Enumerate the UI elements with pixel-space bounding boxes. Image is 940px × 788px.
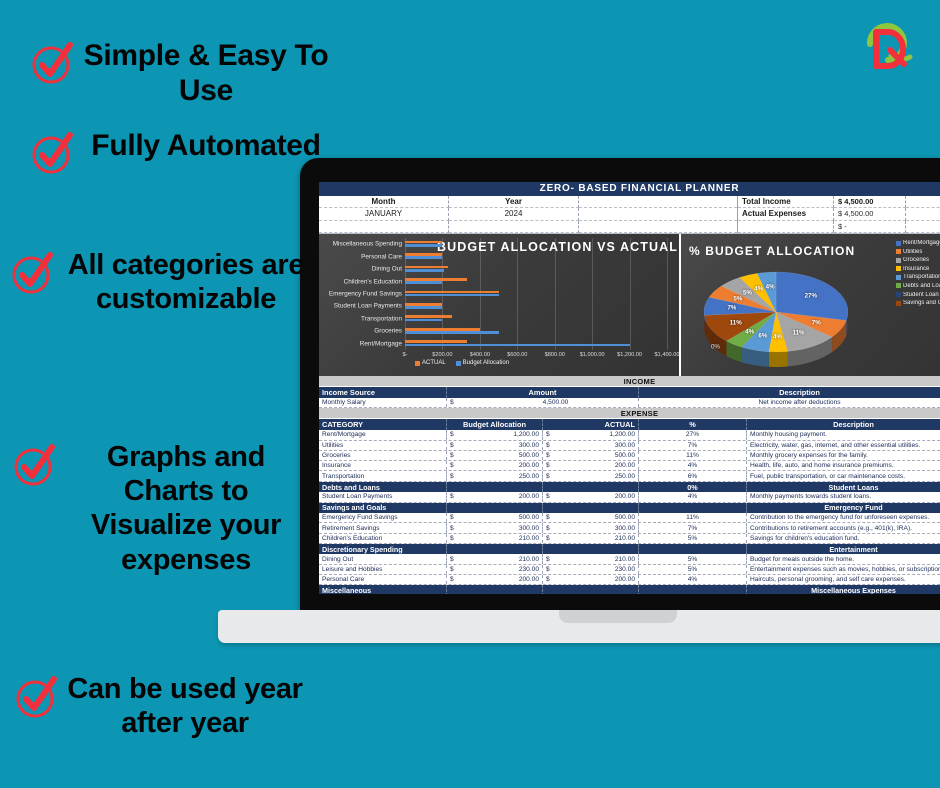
expense-col-pct: % xyxy=(639,419,747,430)
income-rows: Monthly Salary$4,500.00Net income after … xyxy=(319,398,940,408)
percent-cell: 27% xyxy=(639,430,747,439)
budget-cell: $500.00 xyxy=(447,451,543,460)
percent-cell: 7% xyxy=(639,523,747,532)
income-col-source: Income Source xyxy=(319,387,447,398)
bar-chart-x-tick: $800.00 xyxy=(545,352,565,358)
bar-budget xyxy=(405,269,444,272)
total-income-label: Total Income xyxy=(738,196,834,208)
category-cell: Debts and Loans xyxy=(319,482,447,493)
bar-chart-x-tick: $1,200.00 xyxy=(617,352,642,358)
percent-cell xyxy=(639,544,747,555)
actual-cell: $200.00 xyxy=(543,575,639,584)
legend-swatch xyxy=(456,361,461,366)
bar-actual xyxy=(405,241,442,244)
budget-cell: $200.00 xyxy=(447,492,543,501)
description-cell: Entertainment expenses such as movies, h… xyxy=(747,565,940,574)
check-circle-icon xyxy=(30,40,76,86)
pie-slice-percent: 5% xyxy=(733,296,742,303)
feature-label: Fully Automated xyxy=(82,128,330,163)
pie-slice-percent: 4% xyxy=(773,333,782,340)
bar-chart-x-tick: $1,000.00 xyxy=(580,352,605,358)
check-circle-icon xyxy=(10,250,56,296)
budget-cell: $200.00 xyxy=(447,461,543,470)
income-col-description: Description xyxy=(639,387,940,398)
budget-cell xyxy=(447,585,543,594)
legend-label: Insurance xyxy=(903,266,929,272)
actual-cell: $1,200.00 xyxy=(543,430,639,439)
budget-cell xyxy=(447,503,543,514)
feature-label: All categories are customizable xyxy=(62,248,310,316)
bar-chart-legend: ACTUALBudget Allocation xyxy=(415,360,509,366)
bar-chart-plot: Rent/MortgageGroceriesTransportationStud… xyxy=(405,238,667,350)
table-row[interactable]: Dining Out$210.00$210.005%Budget for mea… xyxy=(319,554,940,564)
month-label: Month xyxy=(319,196,449,208)
table-row[interactable]: Student Loan Payments$200.00$200.004%Mon… xyxy=(319,492,940,502)
income-header-row: Income Source Amount Description xyxy=(319,387,940,398)
header-blank-4 xyxy=(449,221,579,233)
percent-cell: 5% xyxy=(639,565,747,574)
bar-chart-category-label: Children's Education xyxy=(319,278,402,285)
percent-cell: 6% xyxy=(639,471,747,480)
feature-label: Can be used year after year xyxy=(66,672,304,740)
check-circle-icon xyxy=(12,442,58,488)
description-cell: Monthly housing payment. xyxy=(747,430,940,439)
pie-legend-item: Groceries xyxy=(896,257,940,263)
pie-slice-percent: 11% xyxy=(730,319,742,326)
year-label: Year xyxy=(449,196,579,208)
table-section-row[interactable]: MiscellaneousMiscellaneous Expenses xyxy=(319,585,940,594)
category-cell: Student Loan Payments xyxy=(319,492,447,501)
pie-slice-percent: 11% xyxy=(793,330,805,337)
percent-cell: 4% xyxy=(639,461,747,470)
bar-budget xyxy=(405,281,442,284)
description-cell: Contribution to the emergency fund for u… xyxy=(747,513,940,522)
laptop-screen: ZERO- BASED FINANCIAL PLANNER Month Year… xyxy=(319,182,940,594)
bar-chart-x-tick: $200.00 xyxy=(432,352,452,358)
expense-col-budget: Budget Allocation xyxy=(447,419,543,430)
pie-slice-percent: 5% xyxy=(743,289,752,296)
legend-label: Groceries xyxy=(903,257,929,263)
category-cell: Dining Out xyxy=(319,554,447,563)
actual-cell: $230.00 xyxy=(543,565,639,574)
percent-cell: 5% xyxy=(639,554,747,563)
feature-label: Simple & Easy To Use xyxy=(82,38,330,109)
expense-col-category: CATEGORY xyxy=(319,419,447,430)
bar-chart-gridline xyxy=(667,238,668,350)
percent-cell: 11% xyxy=(639,451,747,460)
pie-chart-legend: Rent/MortgageUtilitiesGroceriesInsurance… xyxy=(896,240,940,306)
pie-legend-item: Transportation xyxy=(896,274,940,280)
legend-label: Utilities xyxy=(903,249,922,255)
category-cell: Discretionary Spending xyxy=(319,544,447,555)
qd-monogram-logo xyxy=(850,14,924,76)
description-cell: Monthly payments towards student loans. xyxy=(747,492,940,501)
actual-cell: $200.00 xyxy=(543,492,639,501)
pie-slice-percent: 4% xyxy=(745,329,754,336)
description-cell: Health, life, auto, and home insurance p… xyxy=(747,461,940,470)
bar-chart-legend-item: ACTUAL xyxy=(415,360,446,366)
laptop-mockup: ZERO- BASED FINANCIAL PLANNER Month Year… xyxy=(300,158,940,648)
description-cell: Monthly grocery expenses for the family. xyxy=(747,451,940,460)
description-cell: Electricity, water, gas, internet, and o… xyxy=(747,441,940,450)
feature-item-graphs-charts: Graphs and Charts to Visualize your expe… xyxy=(12,440,308,577)
category-cell: Groceries xyxy=(319,451,447,460)
category-cell: Emergency Fund Savings xyxy=(319,513,447,522)
remaining-value: $ - xyxy=(834,221,906,233)
legend-swatch xyxy=(896,292,901,297)
actual-cell: $210.00 xyxy=(543,534,639,543)
income-col-amount: Amount xyxy=(447,387,639,398)
expense-col-description: Description xyxy=(747,419,940,430)
description-cell: Fuel, public transportation, or car main… xyxy=(747,471,940,480)
actual-cell xyxy=(543,482,639,493)
table-row[interactable]: Leisure and Hobbies$230.00$230.005%Enter… xyxy=(319,565,940,575)
bar-actual xyxy=(405,278,467,281)
table-section-row[interactable]: Discretionary SpendingEntertainment xyxy=(319,544,940,555)
month-value[interactable]: JANUARY xyxy=(319,208,449,220)
feature-item-year-after-year: Can be used year after year xyxy=(14,672,304,740)
feature-list: Simple & Easy To Use Fully Automated All… xyxy=(0,0,320,788)
budget-cell: $210.00 xyxy=(447,554,543,563)
bar-budget xyxy=(405,331,499,334)
spreadsheet-title: ZERO- BASED FINANCIAL PLANNER xyxy=(319,182,940,196)
legend-swatch xyxy=(896,275,901,280)
year-value[interactable]: 2024 xyxy=(449,208,579,220)
percent-cell xyxy=(639,503,747,514)
pie-chart-graphic: 27%7%11%4%6%4%0%11%7%5%5%4%4% xyxy=(687,260,865,372)
income-amount-cell: $4,500.00 xyxy=(447,398,639,407)
bar-chart-gridline xyxy=(630,238,631,350)
income-band: INCOME xyxy=(319,376,940,387)
table-row[interactable]: Rent/Mortgage$1,200.00$1,200.0027%Monthl… xyxy=(319,430,940,440)
actual-cell: $500.00 xyxy=(543,451,639,460)
category-cell: Rent/Mortgage xyxy=(319,430,447,439)
actual-cell xyxy=(543,544,639,555)
remaining-label xyxy=(738,221,834,233)
percent-cell: 11% xyxy=(639,513,747,522)
category-cell: Savings and Goals xyxy=(319,503,447,514)
actual-expenses-label: Actual Expenses xyxy=(738,208,834,220)
percent-cell: 4% xyxy=(639,492,747,501)
actual-cell: $210.00 xyxy=(543,554,639,563)
legend-label: Savings and Goa xyxy=(903,300,940,306)
bar-budget xyxy=(405,256,442,259)
bar-actual xyxy=(405,291,499,294)
bar-chart-category-label: Miscellaneous Spending xyxy=(319,241,402,248)
table-row[interactable]: Monthly Salary$4,500.00Net income after … xyxy=(319,398,940,408)
budget-cell: $200.00 xyxy=(447,575,543,584)
pie-slice-percent: 27% xyxy=(805,293,817,300)
bar-chart-category-label: Dining Out xyxy=(319,266,402,273)
description-cell: Contributions to retirement accounts (e.… xyxy=(747,523,940,532)
header-blank-1 xyxy=(579,196,737,208)
budget-cell: $500.00 xyxy=(447,513,543,522)
description-cell: Entertainment xyxy=(747,544,940,555)
pie-legend-item: Debts and Loans xyxy=(896,283,940,289)
pie-svg xyxy=(687,260,865,372)
bar-chart-category-label: Groceries xyxy=(319,328,402,335)
bar-chart-category-label: Rent/Mortgage xyxy=(319,340,402,347)
description-cell: Student Loans xyxy=(747,482,940,493)
pie-slice-side xyxy=(769,351,788,367)
financial-table: INCOME Income Source Amount Description … xyxy=(319,376,940,594)
expense-col-actual: ACTUAL xyxy=(543,419,639,430)
pie-slice-percent: 4% xyxy=(754,286,763,293)
bar-chart-gridline xyxy=(592,238,593,350)
bar-chart-x-tick: $1,400.00 xyxy=(655,352,680,358)
description-cell: Miscellaneous Expenses xyxy=(747,585,940,594)
pie-chart-title: % BUDGET ALLOCATION xyxy=(689,244,855,258)
legend-swatch xyxy=(896,301,901,306)
percent-cell xyxy=(639,585,747,594)
pie-slice-percent: 4% xyxy=(766,284,775,291)
legend-swatch xyxy=(415,361,420,366)
header-blank-5 xyxy=(579,221,737,233)
table-section-row[interactable]: Debts and Loans0%Student Loans xyxy=(319,482,940,493)
pie-legend-item: Utilities xyxy=(896,249,940,255)
budget-cell: $250.00 xyxy=(447,471,543,480)
pie-legend-item: Savings and Goa xyxy=(896,300,940,306)
category-cell: Miscellaneous xyxy=(319,585,447,594)
check-circle-icon xyxy=(30,130,76,176)
budget-cell: $1,200.00 xyxy=(447,430,543,439)
category-cell: Insurance xyxy=(319,461,447,470)
category-cell: Leisure and Hobbies xyxy=(319,565,447,574)
category-cell: Utilities xyxy=(319,441,447,450)
pie-slice-percent: 0% xyxy=(711,344,720,351)
budget-cell: $300.00 xyxy=(447,441,543,450)
bar-budget xyxy=(405,306,442,309)
income-description-cell: Net income after deductions xyxy=(639,398,940,407)
legend-swatch xyxy=(896,241,901,246)
bar-chart-category-label: Emergency Fund Savings xyxy=(319,291,402,298)
legend-label: Transportation xyxy=(903,274,940,280)
table-row[interactable]: Groceries$500.00$500.0011%Monthly grocer… xyxy=(319,451,940,461)
table-row[interactable]: Utilities$300.00$300.007%Electricity, wa… xyxy=(319,441,940,451)
header-totals: Total Income $ 4,500.00 Actual Expenses … xyxy=(737,196,940,233)
legend-label: Debts and Loans xyxy=(903,283,940,289)
totals-pad-1 xyxy=(906,196,940,208)
spreadsheet: ZERO- BASED FINANCIAL PLANNER Month Year… xyxy=(319,182,940,594)
bar-budget xyxy=(405,294,499,297)
budget-cell: $300.00 xyxy=(447,523,543,532)
feature-item-fully-automated: Fully Automated xyxy=(30,128,330,176)
bar-chart-legend-item: Budget Allocation xyxy=(456,360,509,366)
bar-chart-category-label: Student Loan Payments xyxy=(319,303,402,310)
bar-chart-gridline xyxy=(555,238,556,350)
bar-actual xyxy=(405,328,480,331)
category-cell: Retirement Savings xyxy=(319,523,447,532)
description-cell: Haircuts, personal grooming, and self ca… xyxy=(747,575,940,584)
total-income-value: $ 4,500.00 xyxy=(834,196,906,208)
header-blank-2 xyxy=(579,208,737,220)
percent-cell: 4% xyxy=(639,575,747,584)
actual-cell xyxy=(543,503,639,514)
feature-item-simple-easy: Simple & Easy To Use xyxy=(30,38,330,109)
bar-budget xyxy=(405,319,442,322)
legend-label: Student Loan Pa xyxy=(903,292,940,298)
actual-cell: $500.00 xyxy=(543,513,639,522)
header-blank-3 xyxy=(319,221,449,233)
feature-label: Graphs and Charts to Visualize your expe… xyxy=(64,440,308,577)
pie-slice-percent: 7% xyxy=(727,305,736,312)
totals-pad-2 xyxy=(906,208,940,220)
legend-swatch xyxy=(896,249,901,254)
category-cell: Personal Care xyxy=(319,575,447,584)
budget-cell xyxy=(447,482,543,493)
budget-cell: $210.00 xyxy=(447,534,543,543)
expense-band: EXPENSE xyxy=(319,408,940,419)
legend-swatch xyxy=(896,258,901,263)
bar-chart-category-label: Transportation xyxy=(319,315,402,322)
pie-legend-item: Student Loan Pa xyxy=(896,292,940,298)
laptop-base xyxy=(218,610,940,643)
bar-actual xyxy=(405,266,448,269)
bar-chart-gridline xyxy=(517,238,518,350)
pie-legend-item: Insurance xyxy=(896,266,940,272)
actual-cell: $300.00 xyxy=(543,523,639,532)
description-cell: Emergency Fund xyxy=(747,503,940,514)
bar-actual xyxy=(405,315,452,318)
actual-cell: $200.00 xyxy=(543,461,639,470)
pie-slice-percent: 7% xyxy=(812,319,821,326)
spreadsheet-header: Month Year JANUARY 2024 xyxy=(319,196,940,234)
category-cell: Children's Education xyxy=(319,534,447,543)
bar-budget xyxy=(405,344,630,347)
budget-allocation-pie-chart: % BUDGET ALLOCATION 27%7%11%4%6%4%0%11%7… xyxy=(681,234,940,376)
expense-header-row: CATEGORY Budget Allocation ACTUAL % Desc… xyxy=(319,419,940,430)
description-cell: Budget for meals outside the home. xyxy=(747,554,940,563)
expense-rows: Rent/Mortgage$1,200.00$1,200.0027%Monthl… xyxy=(319,430,940,594)
description-cell: Savings for children's education fund. xyxy=(747,534,940,543)
totals-pad-3 xyxy=(906,221,940,233)
header-left: Month Year JANUARY 2024 xyxy=(319,196,737,233)
table-row[interactable]: Personal Care$200.00$200.004%Haircuts, p… xyxy=(319,575,940,585)
bar-budget xyxy=(405,244,442,247)
category-cell: Transportation xyxy=(319,471,447,480)
bar-chart-category-label: Personal Care xyxy=(319,253,402,260)
table-row[interactable]: Retirement Savings$300.00$300.007%Contri… xyxy=(319,523,940,533)
actual-cell: $250.00 xyxy=(543,471,639,480)
feature-item-customizable: All categories are customizable xyxy=(10,248,310,316)
actual-cell xyxy=(543,585,639,594)
table-row[interactable]: Emergency Fund Savings$500.00$500.0011%C… xyxy=(319,513,940,523)
legend-label: ACTUAL xyxy=(422,360,446,366)
pie-legend-item: Rent/Mortgage xyxy=(896,240,940,246)
bar-actual xyxy=(405,303,442,306)
legend-swatch xyxy=(896,283,901,288)
actual-cell: $300.00 xyxy=(543,441,639,450)
budget-cell: $230.00 xyxy=(447,565,543,574)
check-circle-icon xyxy=(14,674,60,720)
budget-cell xyxy=(447,544,543,555)
legend-swatch xyxy=(896,266,901,271)
legend-label: Rent/Mortgage xyxy=(903,240,940,246)
percent-cell: 5% xyxy=(639,534,747,543)
pie-slice-percent: 6% xyxy=(758,332,767,339)
bar-chart-x-tick: $400.00 xyxy=(470,352,490,358)
table-section-row[interactable]: Savings and GoalsEmergency Fund xyxy=(319,503,940,514)
percent-cell: 0% xyxy=(639,482,747,493)
budget-vs-actual-bar-chart: BUDGET ALLOCATION VS ACTUAL Rent/Mortgag… xyxy=(319,234,681,376)
table-row[interactable]: Transportation$250.00$250.006%Fuel, publ… xyxy=(319,471,940,481)
income-source-cell: Monthly Salary xyxy=(319,398,447,407)
legend-label: Budget Allocation xyxy=(463,360,509,366)
charts-row: BUDGET ALLOCATION VS ACTUAL Rent/Mortgag… xyxy=(319,234,940,376)
bar-chart-x-tick: $600.00 xyxy=(507,352,527,358)
percent-cell: 7% xyxy=(639,441,747,450)
table-row[interactable]: Insurance$200.00$200.004%Health, life, a… xyxy=(319,461,940,471)
table-row[interactable]: Children's Education$210.00$210.005%Savi… xyxy=(319,534,940,544)
bar-chart-x-tick: $- xyxy=(403,352,408,358)
actual-expenses-value: $ 4,500.00 xyxy=(834,208,906,220)
